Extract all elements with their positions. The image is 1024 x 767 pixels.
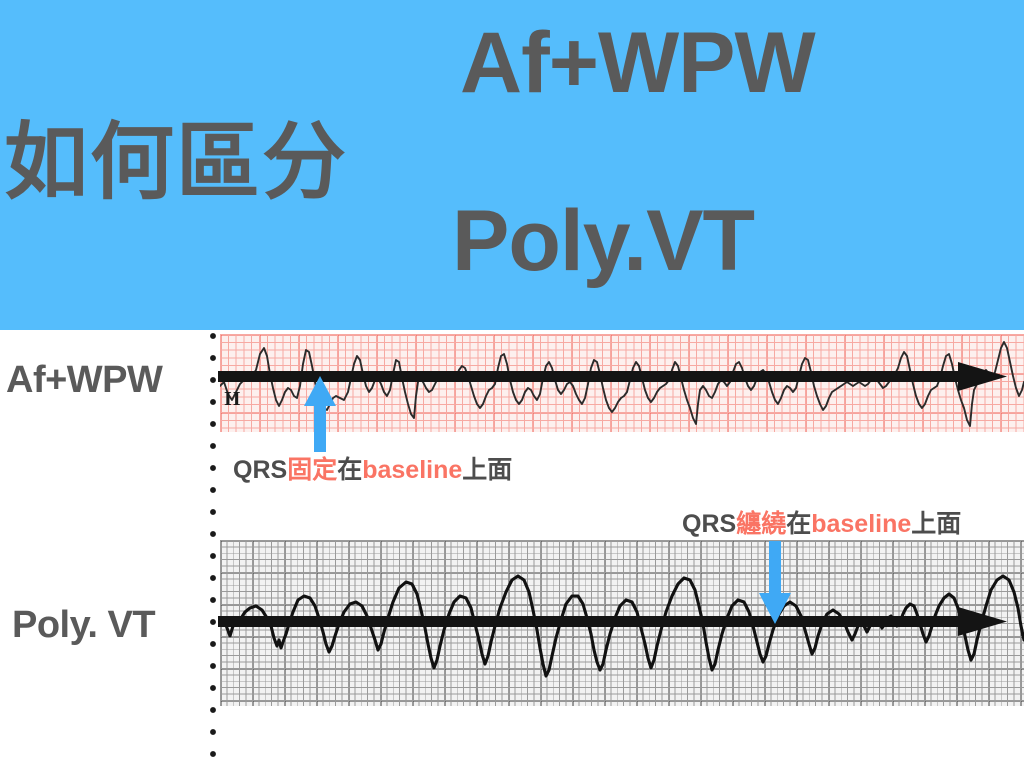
header-question-label: 如何區分 xyxy=(4,120,348,204)
annotation2-part3: 上面 xyxy=(911,510,961,538)
annotation1-part3: 上面 xyxy=(462,456,512,484)
pointer-arrow-down-icon xyxy=(758,541,792,625)
annotation2-part1: QRS xyxy=(682,510,736,538)
row-label-af-wpw: Af+WPW xyxy=(6,361,162,399)
annotation1-highlight2: baseline xyxy=(362,456,462,484)
annotation1-part1: QRS xyxy=(233,456,287,484)
vertical-dotted-divider xyxy=(209,332,217,767)
annotation-af-wpw: QRS固定在baseline上面 xyxy=(233,458,512,483)
header-title-af-wpw: Af+WPW xyxy=(460,20,815,106)
header-banner: Af+WPW Poly.VT 如何區分 xyxy=(0,0,1024,330)
annotation2-highlight2: baseline xyxy=(811,510,911,538)
annotation2-highlight1: 纏繞 xyxy=(736,510,786,538)
row-label-poly-vt: Poly. VT xyxy=(12,606,155,644)
annotation1-part2: 在 xyxy=(337,456,362,484)
annotation2-part2: 在 xyxy=(786,510,811,538)
baseline-arrow-poly-vt xyxy=(218,605,1008,639)
header-title-poly-vt: Poly.VT xyxy=(452,198,754,284)
annotation1-highlight1: 固定 xyxy=(287,456,337,484)
annotation-poly-vt: QRS纏繞在baseline上面 xyxy=(682,512,961,537)
pointer-arrow-up-icon xyxy=(303,376,337,452)
